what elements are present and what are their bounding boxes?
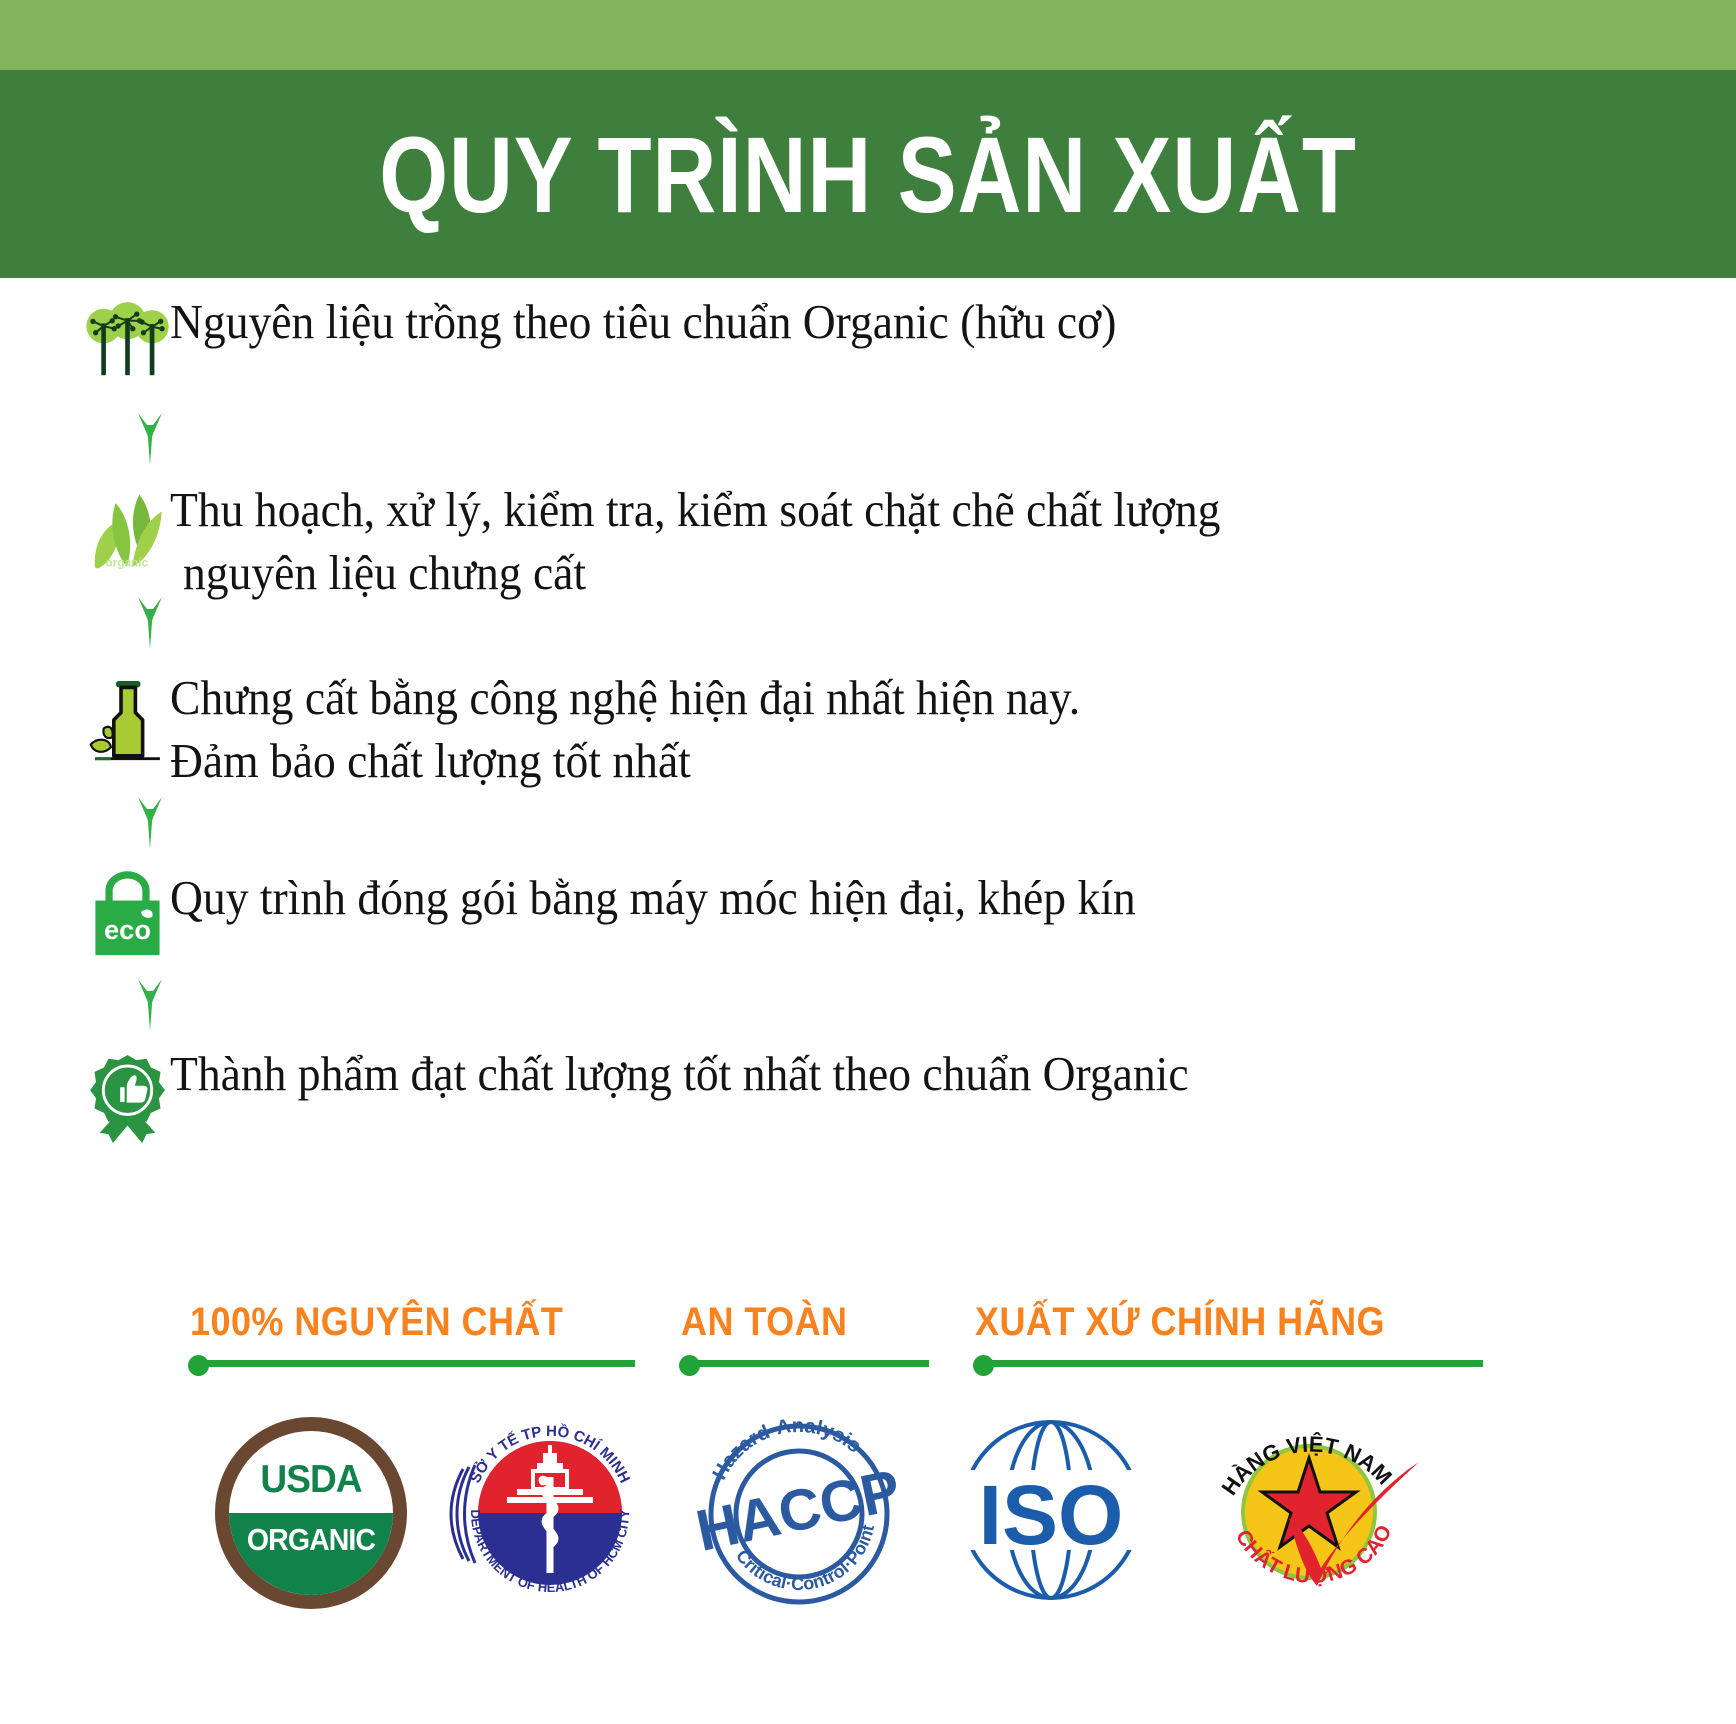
- eco-bag-icon: eco: [0, 861, 170, 969]
- usda-logo-text-top: USDA: [233, 1458, 389, 1502]
- feature-rule-bar: [681, 1360, 929, 1367]
- step-text: Thành phẩm đạt chất lượng tốt nhất theo …: [170, 1037, 1189, 1106]
- usda-organic-logo: USDA ORGANIC: [215, 1417, 407, 1609]
- arrow-down-1: [0, 435, 1736, 473]
- page-title-text: QUY TRÌNH SẢN XUẤT: [379, 112, 1357, 237]
- feature-rule-dot: [188, 1355, 209, 1376]
- step-item: Chưng cất bằng công nghệ hiện đại nhất h…: [0, 661, 1736, 821]
- step-line-1: Nguyên liệu trồng theo tiêu chuẩn Organi…: [170, 294, 1116, 349]
- step-line-1: Thu hoạch, xử lý, kiểm tra, kiểm soát ch…: [170, 482, 1220, 537]
- quality-badge-thumbs-up-icon: [0, 1037, 170, 1161]
- step-text: Thu hoạch, xử lý, kiểm tra, kiểm soát ch…: [170, 473, 1220, 604]
- iso-logo: ISO: [943, 1410, 1159, 1615]
- certification-logos: USDA ORGANIC: [0, 1400, 1736, 1625]
- three-trees-icon: [0, 285, 170, 395]
- process-steps-list: Nguyên liệu trồng theo tiêu chuẩn Organi…: [0, 285, 1736, 1187]
- feature-label: AN TOÀN: [681, 1300, 904, 1345]
- feature-item-2: AN TOÀN: [681, 1300, 929, 1368]
- feature-item-1: 100% NGUYÊN CHẤT: [190, 1300, 635, 1368]
- step-text: Quy trình đóng gói bằng máy móc hiện đại…: [170, 861, 1136, 930]
- feature-rule-bar: [190, 1360, 635, 1367]
- feature-rule: [975, 1358, 1483, 1368]
- arrow-down-2: [0, 623, 1736, 661]
- hcm-department-of-health-logo: SỞ Y TẾ TP HỒ CHÍ MINH DEPARTMENT OF HEA…: [445, 1405, 655, 1620]
- step-text: Nguyên liệu trồng theo tiêu chuẩn Organi…: [170, 285, 1116, 354]
- feature-rule-dot: [973, 1355, 994, 1376]
- step-line-1: Thành phẩm đạt chất lượng tốt nhất theo …: [170, 1046, 1189, 1101]
- step-item: Nguyên liệu trồng theo tiêu chuẩn Organi…: [0, 285, 1736, 435]
- step-line-1: Quy trình đóng gói bằng máy móc hiện đại…: [170, 870, 1136, 925]
- organic-icon-label: organic: [105, 556, 148, 570]
- page-title: QUY TRÌNH SẢN XUẤT: [0, 70, 1736, 278]
- header-band-light: [0, 0, 1736, 70]
- feature-rule-bar: [975, 1360, 1483, 1367]
- step-text: Chưng cất bằng công nghệ hiện đại nhất h…: [170, 661, 1080, 792]
- feature-item-3: XUẤT XỨ CHÍNH HÃNG: [975, 1300, 1483, 1368]
- arrow-down-4: [0, 1001, 1736, 1037]
- feature-rule: [190, 1358, 635, 1368]
- step-line-2: Đảm bảo chất lượng tốt nhất: [170, 730, 1080, 793]
- bottle-icon: [0, 661, 170, 783]
- hang-viet-nam-chat-luong-cao-logo: HÀNG VIỆT NAM CHẤT LƯỢNG CAO: [1197, 1400, 1433, 1625]
- arrow-down-3: [0, 821, 1736, 861]
- eco-bag-label: eco: [104, 914, 151, 945]
- feature-labels: 100% NGUYÊN CHẤT AN TOÀN XUẤT XỨ CHÍNH H…: [0, 1300, 1736, 1368]
- haccp-logo: Hazard·Analysis Critical·Control·Point H…: [693, 1404, 905, 1621]
- iso-logo-text: ISO: [979, 1468, 1124, 1562]
- feature-rule: [681, 1358, 929, 1368]
- step-line-2: nguyên liệu chưng cất: [170, 542, 1220, 605]
- organic-leaves-icon: organic: [0, 473, 170, 589]
- step-item: organic Thu hoạch, xử lý, kiểm tra, kiểm…: [0, 473, 1736, 623]
- step-item: Thành phẩm đạt chất lượng tốt nhất theo …: [0, 1037, 1736, 1187]
- usda-logo-text-bottom: ORGANIC: [236, 1522, 387, 1558]
- step-line-1: Chưng cất bằng công nghệ hiện đại nhất h…: [170, 670, 1080, 725]
- feature-label: XUẤT XỨ CHÍNH HÃNG: [975, 1300, 1432, 1345]
- step-item: eco Quy trình đóng gói bằng máy móc hiện…: [0, 861, 1736, 1001]
- feature-rule-dot: [679, 1355, 700, 1376]
- feature-label: 100% NGUYÊN CHẤT: [190, 1300, 591, 1345]
